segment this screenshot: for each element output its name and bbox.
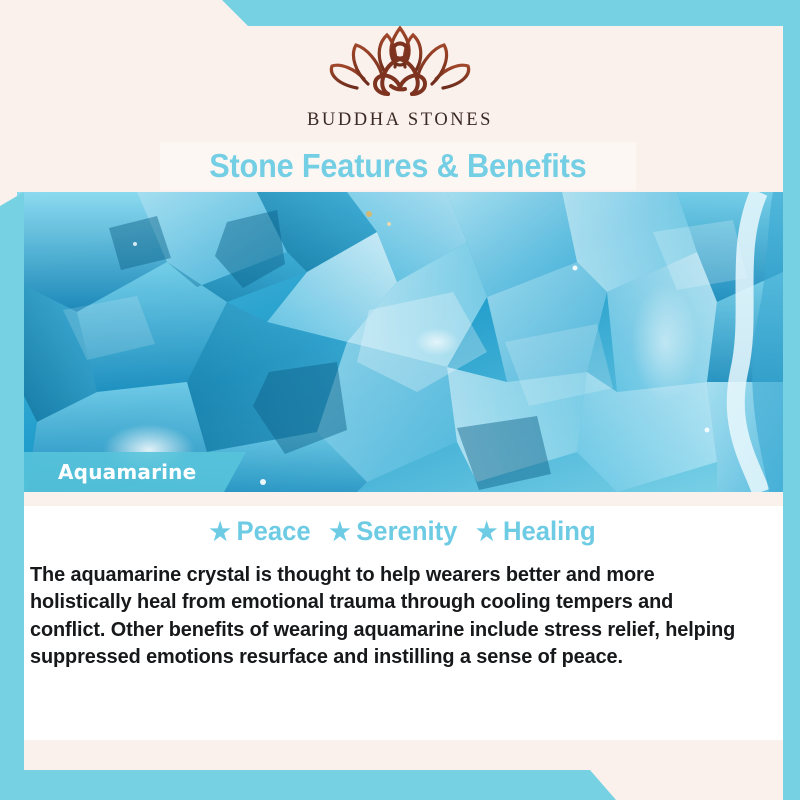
keyword-row: ★Peace ★Serenity ★Healing: [43, 516, 764, 547]
star-icon-3: ★: [476, 518, 497, 546]
decor-bottom-cyan-bar: [0, 770, 800, 800]
stone-name-banner: Aquamarine: [24, 452, 246, 492]
brand-wordmark: BUDDHA STONES: [307, 110, 493, 131]
content-panel: ★Peace ★Serenity ★Healing The aquamarine…: [24, 506, 783, 740]
keyword-peace: Peace: [236, 516, 310, 546]
decor-left-cyan-bar: [0, 192, 24, 800]
poster-canvas: BUDDHA STONES Stone Features & Benefits: [0, 0, 800, 800]
lotus-meditation-icon: [315, 22, 485, 106]
page-title: Stone Features & Benefits: [209, 147, 586, 185]
keyword-serenity: Serenity: [356, 516, 457, 546]
brand-logo: BUDDHA STONES: [0, 22, 800, 131]
bottom-background-fill: [24, 740, 783, 770]
title-band: Stone Features & Benefits: [160, 142, 636, 190]
decor-right-cyan-bar: [783, 0, 800, 800]
star-icon-2: ★: [329, 518, 350, 546]
description-paragraph: The aquamarine crystal is thought to hel…: [30, 561, 748, 670]
stone-name-label: Aquamarine: [58, 460, 196, 484]
keyword-healing: Healing: [503, 516, 596, 546]
star-icon-1: ★: [209, 518, 230, 546]
hero-image-aquamarine-crystal: [17, 192, 783, 492]
content-separator: [24, 492, 783, 506]
